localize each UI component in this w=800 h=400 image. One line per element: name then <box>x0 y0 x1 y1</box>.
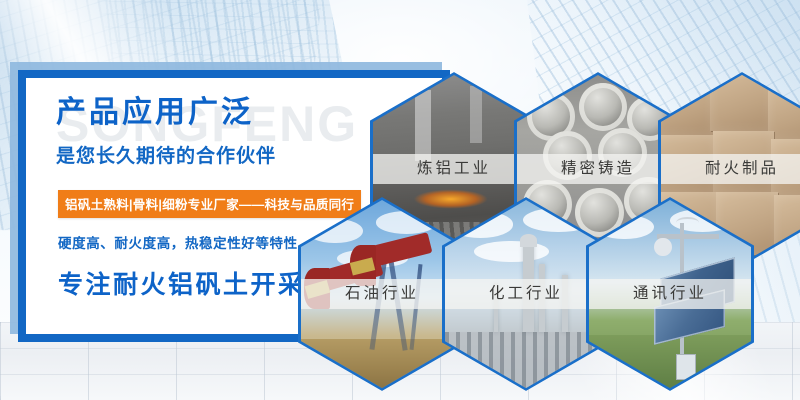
promotional-banner: SONGFENG 产品应用广泛 是您长久期待的合作伙伴 铝矾土熟料|骨料|细粉专… <box>0 0 800 400</box>
hex-label: 精密铸造 <box>517 154 679 184</box>
hex-label: 化工行业 <box>445 279 607 309</box>
hex-label: 耐火制品 <box>661 154 800 184</box>
hex-label: 通讯行业 <box>589 279 751 309</box>
hex-label: 石油行业 <box>301 279 463 309</box>
hex-label: 炼铝工业 <box>373 154 535 184</box>
industry-hexagon-grid: 炼铝工业 精密铸造 耐火制品 <box>0 0 800 400</box>
